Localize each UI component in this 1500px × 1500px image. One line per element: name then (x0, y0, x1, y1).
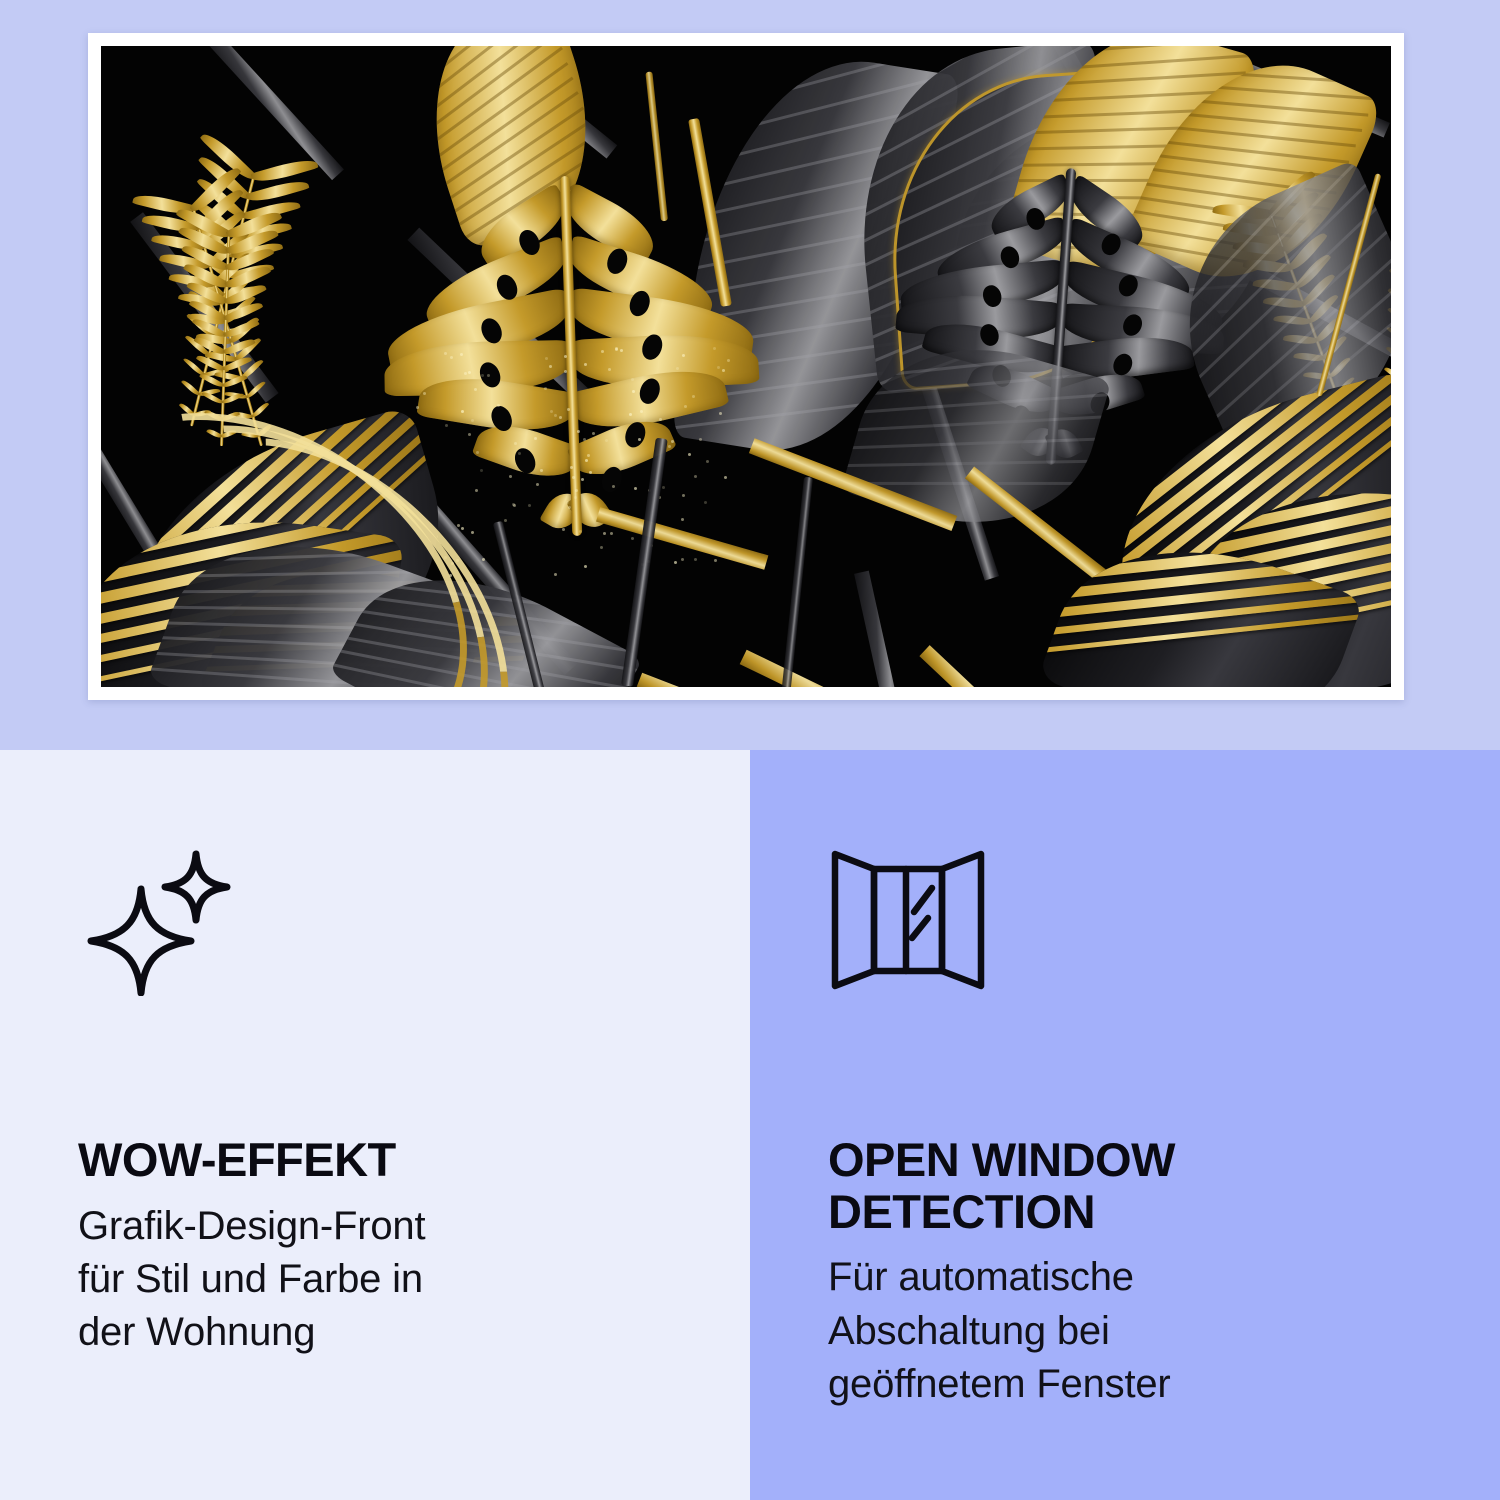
feature-panel-open-window-detection: OPEN WINDOW DETECTION Für automatische A… (750, 750, 1500, 1500)
panel-title: WOW-EFFEKT (78, 1134, 672, 1186)
panel-body: Für automatische Abschaltung bei geöffne… (828, 1251, 1422, 1411)
feature-panel-wow-effekt: WOW-EFFEKT Grafik-Design-Front für Stil … (0, 750, 750, 1500)
infographic-page: WOW-EFFEKT Grafik-Design-Front für Stil … (0, 0, 1500, 1500)
sparkle-icon (78, 846, 672, 1006)
panel-title: OPEN WINDOW DETECTION (828, 1134, 1422, 1237)
panel-body: Grafik-Design-Front für Stil und Farbe i… (78, 1200, 672, 1360)
feature-panels: WOW-EFFEKT Grafik-Design-Front für Stil … (0, 750, 1500, 1500)
tropical-leaf-artwork (101, 46, 1391, 687)
panel-artwork-frame-inner (101, 46, 1391, 687)
hero-section (0, 0, 1500, 750)
framed-wall-panel (88, 33, 1404, 700)
open-window-icon (828, 846, 1422, 1006)
